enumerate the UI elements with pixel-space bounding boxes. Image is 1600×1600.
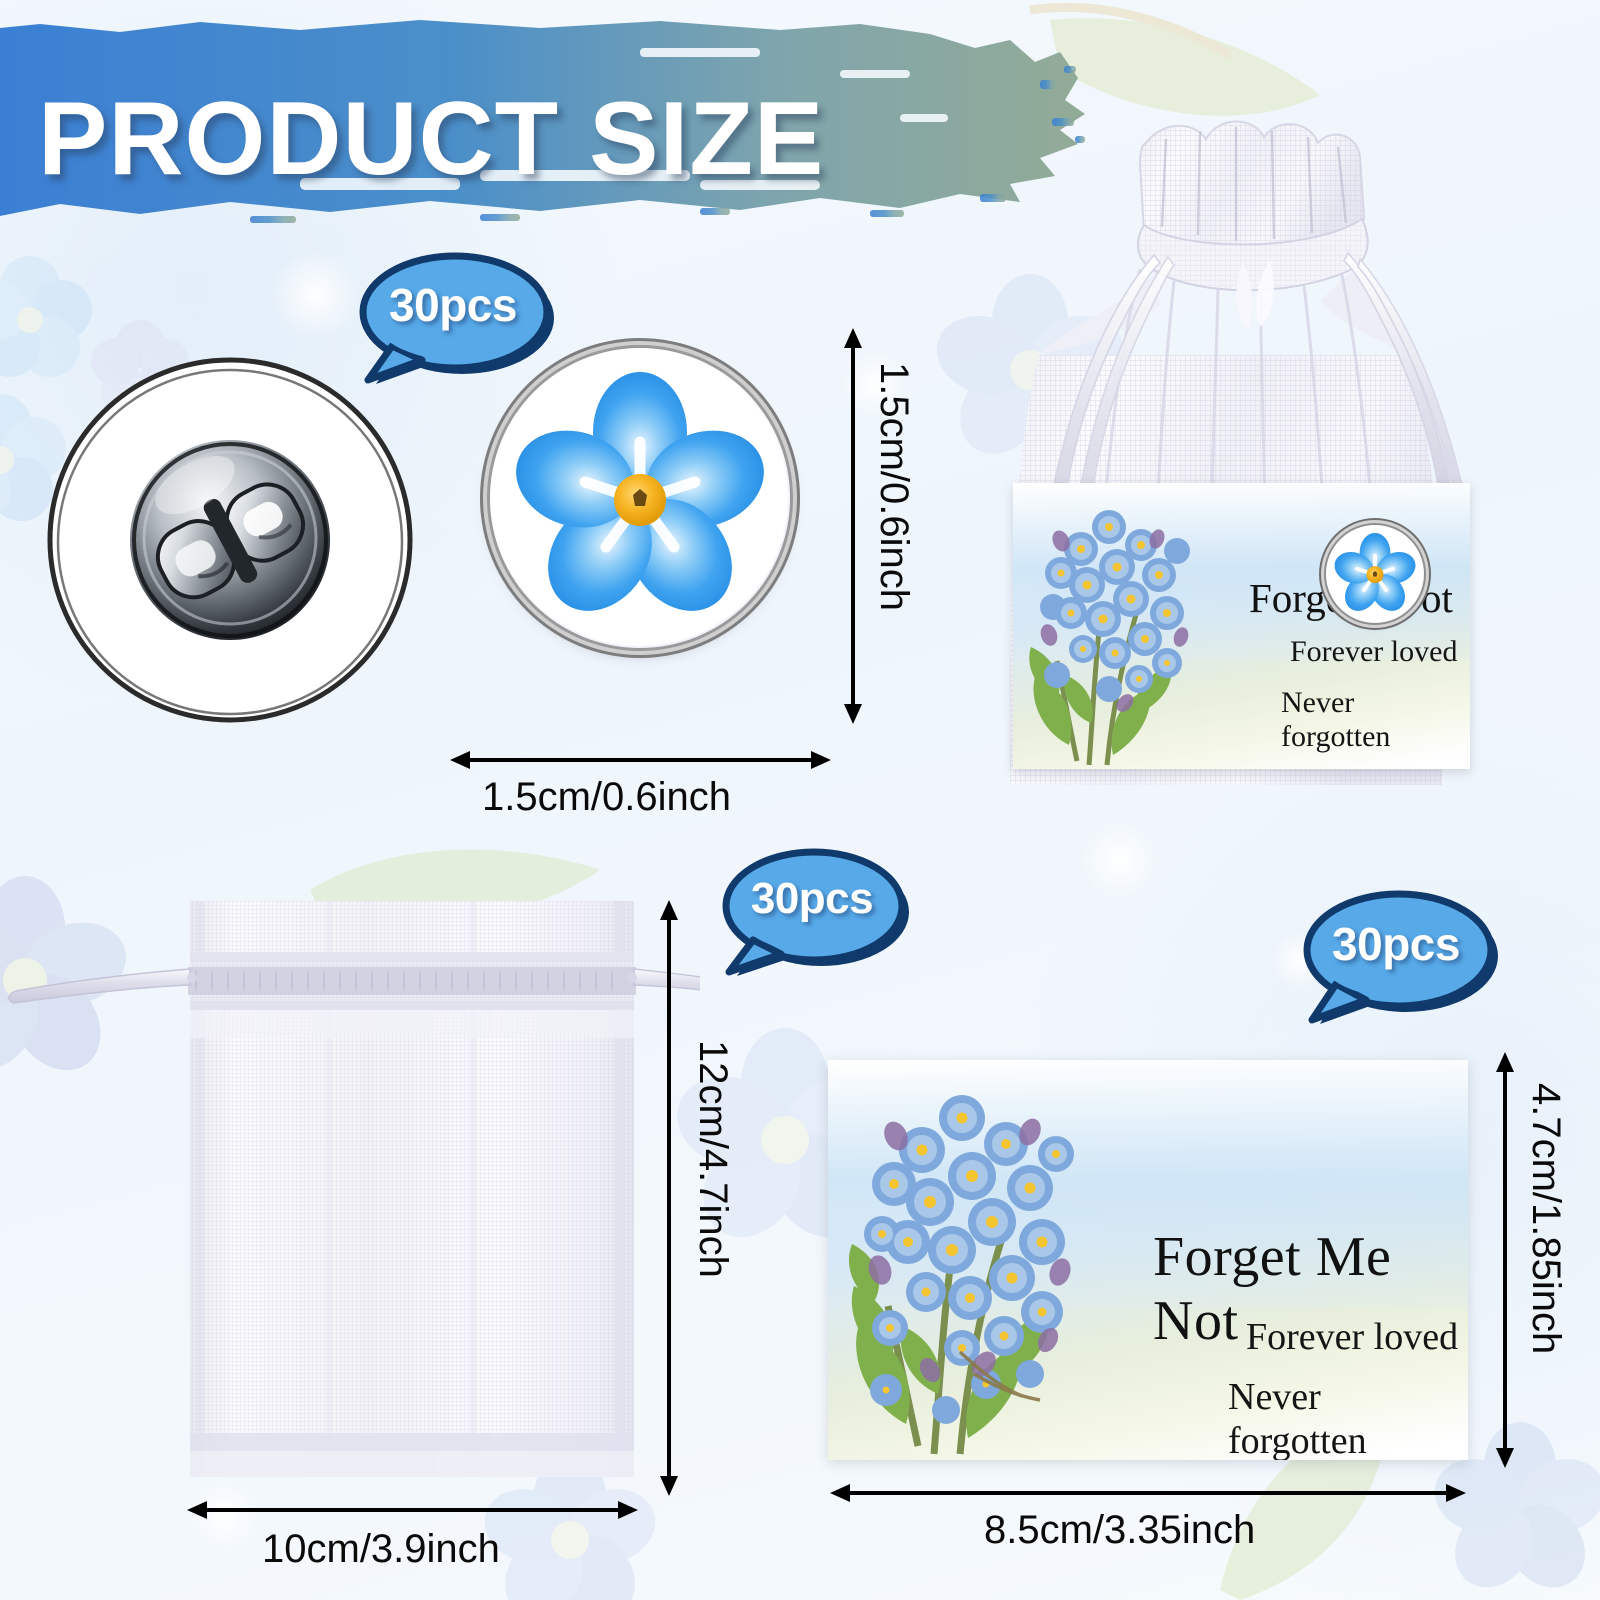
forget-me-not-flower-icon xyxy=(1326,525,1424,623)
bokeh-dot xyxy=(1080,820,1160,900)
product-size-infographic: PRODUCT SIZE xyxy=(0,0,1600,1600)
pin-badge-on-card-small xyxy=(1326,525,1424,623)
message-card-large: Forget Me Not Forever loved Never forgot… xyxy=(828,1060,1468,1460)
pin-face-small xyxy=(1326,525,1424,623)
card-line-1: Forever loved xyxy=(1246,1315,1458,1359)
bag-height-label: 12cm/4.7inch xyxy=(690,1040,735,1278)
bokeh-dot xyxy=(270,250,360,340)
forget-me-not-bouquet-illustration-small xyxy=(1017,493,1227,769)
card-title-right: ot xyxy=(1421,574,1453,622)
card-width-label: 8.5cm/3.35inch xyxy=(984,1508,1255,1553)
card-line-2-small: Never forgotten xyxy=(1281,686,1470,754)
organza-bag-flat xyxy=(0,885,700,1505)
pin-height-label: 1.5cm/0.6inch xyxy=(871,362,916,611)
card-width-dimension xyxy=(828,1478,1468,1508)
bag-width-label: 10cm/3.9inch xyxy=(262,1527,500,1572)
quantity-badge-pin: 30pcs xyxy=(352,252,562,384)
quantity-badge-bag: 30pcs xyxy=(715,848,915,976)
quantity-badge-card: 30pcs xyxy=(1294,890,1506,1024)
card-line-2: Never forgotten xyxy=(1228,1375,1468,1460)
card-height-dimension xyxy=(1488,1050,1522,1470)
pin-back-view xyxy=(35,345,425,735)
forget-me-not-flower-icon xyxy=(490,348,790,648)
bag-height-dimension xyxy=(652,898,686,1498)
pin-width-label: 1.5cm/0.6inch xyxy=(482,775,731,820)
pin-front-view xyxy=(490,348,790,648)
bag-width-dimension xyxy=(185,1495,640,1525)
pin-face xyxy=(490,348,790,648)
pin-width-dimension xyxy=(448,745,833,775)
card-line-1-small: Forever loved xyxy=(1290,635,1457,669)
page-title: PRODUCT SIZE xyxy=(38,80,824,199)
card-height-label: 4.7cm/1.85inch xyxy=(1523,1083,1568,1354)
message-card-small: Forget ot xyxy=(1013,483,1470,769)
pin-height-dimension xyxy=(836,326,870,726)
forget-me-not-bouquet-illustration xyxy=(834,1074,1134,1458)
